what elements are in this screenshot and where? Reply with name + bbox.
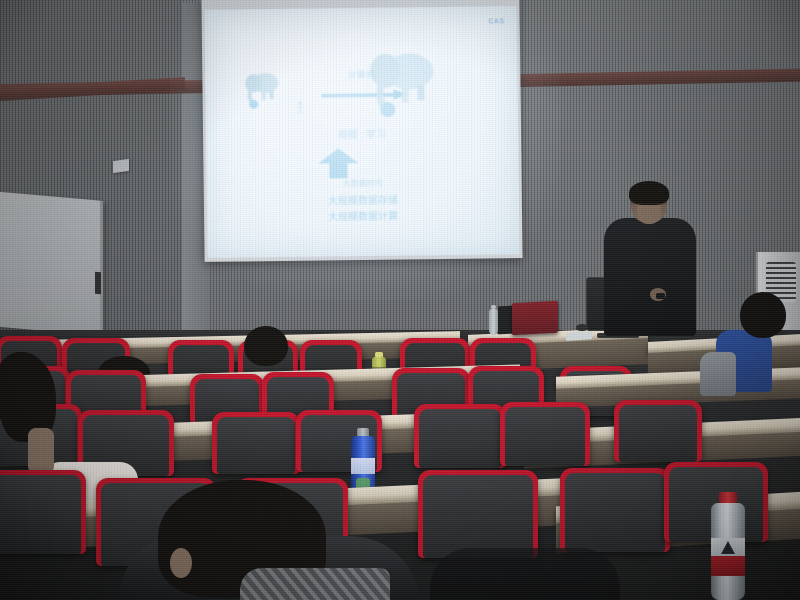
presenter-body bbox=[604, 218, 696, 336]
student-neck bbox=[28, 428, 54, 474]
bottle-label-mountain-icon bbox=[721, 541, 735, 554]
bottle-label bbox=[351, 458, 375, 474]
slide-line-3: 大规模数据计算 bbox=[207, 206, 519, 225]
presenter-glasses bbox=[637, 203, 661, 210]
seat bbox=[418, 470, 538, 558]
student-scarf bbox=[240, 568, 390, 600]
whiteboard bbox=[0, 191, 103, 336]
water-bottle-nongfu bbox=[710, 492, 746, 600]
student-head bbox=[740, 292, 786, 338]
slide-middle-label: 规模 : 学习 bbox=[206, 124, 518, 143]
ceiling-speaker bbox=[113, 159, 129, 173]
projection-screen: CAS 计算机 规模 : 学习 bbox=[204, 6, 519, 258]
bottle-on-podium bbox=[489, 305, 498, 335]
laser-pointer bbox=[656, 293, 665, 299]
seat bbox=[212, 412, 300, 474]
bottle-label-brand bbox=[711, 556, 745, 576]
lecture-hall-photo: CAS 计算机 规模 : 学习 bbox=[0, 0, 800, 600]
slide-logo: CAS bbox=[488, 18, 504, 25]
red-laptop bbox=[512, 301, 558, 335]
slide-line-1: 大数据时代 bbox=[207, 176, 519, 191]
seat bbox=[560, 468, 670, 552]
bottle-body bbox=[489, 309, 498, 335]
presenter-hair bbox=[629, 181, 669, 205]
seat bbox=[414, 404, 506, 468]
seat bbox=[614, 400, 702, 462]
mouse bbox=[576, 324, 588, 331]
seat bbox=[0, 470, 86, 554]
whiteboard-clip bbox=[95, 272, 101, 295]
up-arrow-icon bbox=[318, 148, 358, 178]
student-ear bbox=[170, 548, 192, 578]
large-elephant-icon bbox=[365, 45, 444, 118]
scale-person-icon bbox=[296, 101, 305, 115]
foreground-shadow bbox=[430, 548, 620, 600]
seat bbox=[500, 402, 590, 466]
student-head bbox=[244, 326, 288, 366]
slide-arrow-label: 计算机 bbox=[205, 66, 517, 83]
student-sleeve bbox=[700, 352, 736, 396]
